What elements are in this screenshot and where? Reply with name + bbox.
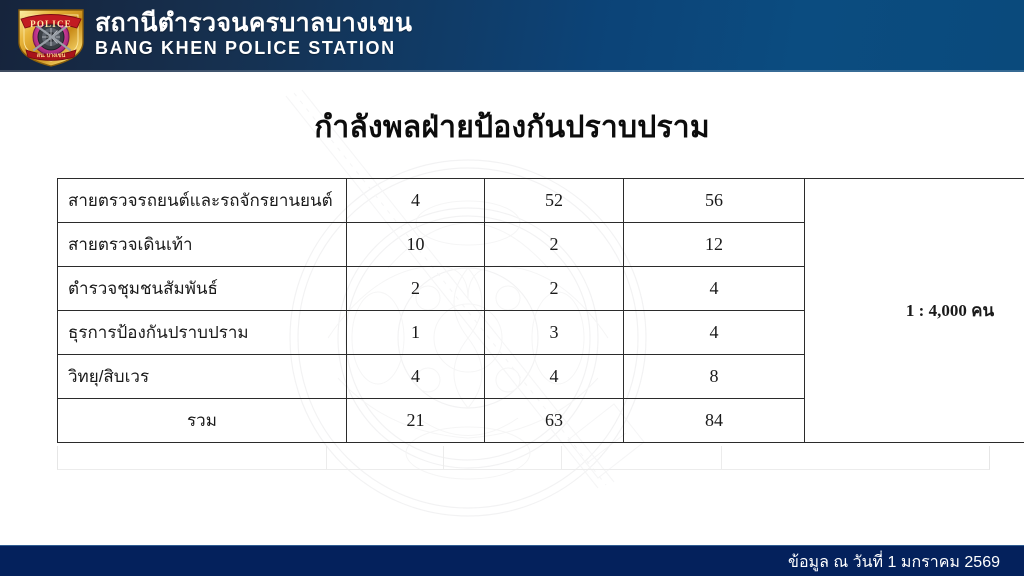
site-header: POLICE สน. บางเขน สถานีตำรวจนครบาลบางเขน…	[0, 0, 1024, 72]
row-label: สายตรวจรถยนต์และรถจักรยานยนต์	[58, 179, 347, 223]
row-value-1: 10	[347, 223, 485, 267]
row-value-1: 21	[347, 399, 485, 443]
station-name-english: BANG KHEN POLICE STATION	[95, 38, 412, 59]
svg-text:สน. บางเขน: สน. บางเขน	[37, 52, 66, 59]
table-row: สายตรวจรถยนต์และรถจักรยานยนต์ 4 52 56 1 …	[58, 179, 1024, 223]
row-value-2: 63	[485, 399, 624, 443]
row-value-total: 84	[624, 399, 805, 443]
svg-text:POLICE: POLICE	[30, 19, 72, 29]
row-value-2: 2	[485, 223, 624, 267]
row-value-1: 1	[347, 311, 485, 355]
row-value-2: 52	[485, 179, 624, 223]
row-label-total: รวม	[58, 399, 347, 443]
row-value-total: 56	[624, 179, 805, 223]
row-value-1: 4	[347, 179, 485, 223]
row-value-total: 4	[624, 267, 805, 311]
row-value-2: 2	[485, 267, 624, 311]
row-value-1: 4	[347, 355, 485, 399]
table-trailing-row	[57, 446, 990, 470]
station-name-thai: สถานีตำรวจนครบาลบางเขน	[95, 8, 412, 38]
row-label: ธุรการป้องกันปราบปราม	[58, 311, 347, 355]
data-as-of-text: ข้อมูล ณ วันที่ 1 มกราคม 2569	[788, 550, 1000, 575]
row-value-total: 8	[624, 355, 805, 399]
header-titles: สถานีตำรวจนครบาลบางเขน BANG KHEN POLICE …	[95, 8, 412, 59]
police-badge-logo-icon: POLICE สน. บางเขน	[14, 6, 88, 68]
row-value-2: 4	[485, 355, 624, 399]
row-label: ตำรวจชุมชนสัมพันธ์	[58, 267, 347, 311]
row-label: สายตรวจเดินเท้า	[58, 223, 347, 267]
row-label: วิทยุ/สิบเวร	[58, 355, 347, 399]
page-title: กำลังพลฝ่ายป้องกันปราบปราม	[0, 104, 1024, 151]
row-value-1: 2	[347, 267, 485, 311]
row-value-total: 4	[624, 311, 805, 355]
row-value-2: 3	[485, 311, 624, 355]
page-footer: ข้อมูล ณ วันที่ 1 มกราคม 2569	[0, 545, 1024, 576]
personnel-table-container: สายตรวจรถยนต์และรถจักรยานยนต์ 4 52 56 1 …	[57, 178, 990, 443]
ratio-cell: 1 : 4,000 คน	[805, 179, 1024, 443]
personnel-table: สายตรวจรถยนต์และรถจักรยานยนต์ 4 52 56 1 …	[57, 178, 1024, 443]
row-value-total: 12	[624, 223, 805, 267]
